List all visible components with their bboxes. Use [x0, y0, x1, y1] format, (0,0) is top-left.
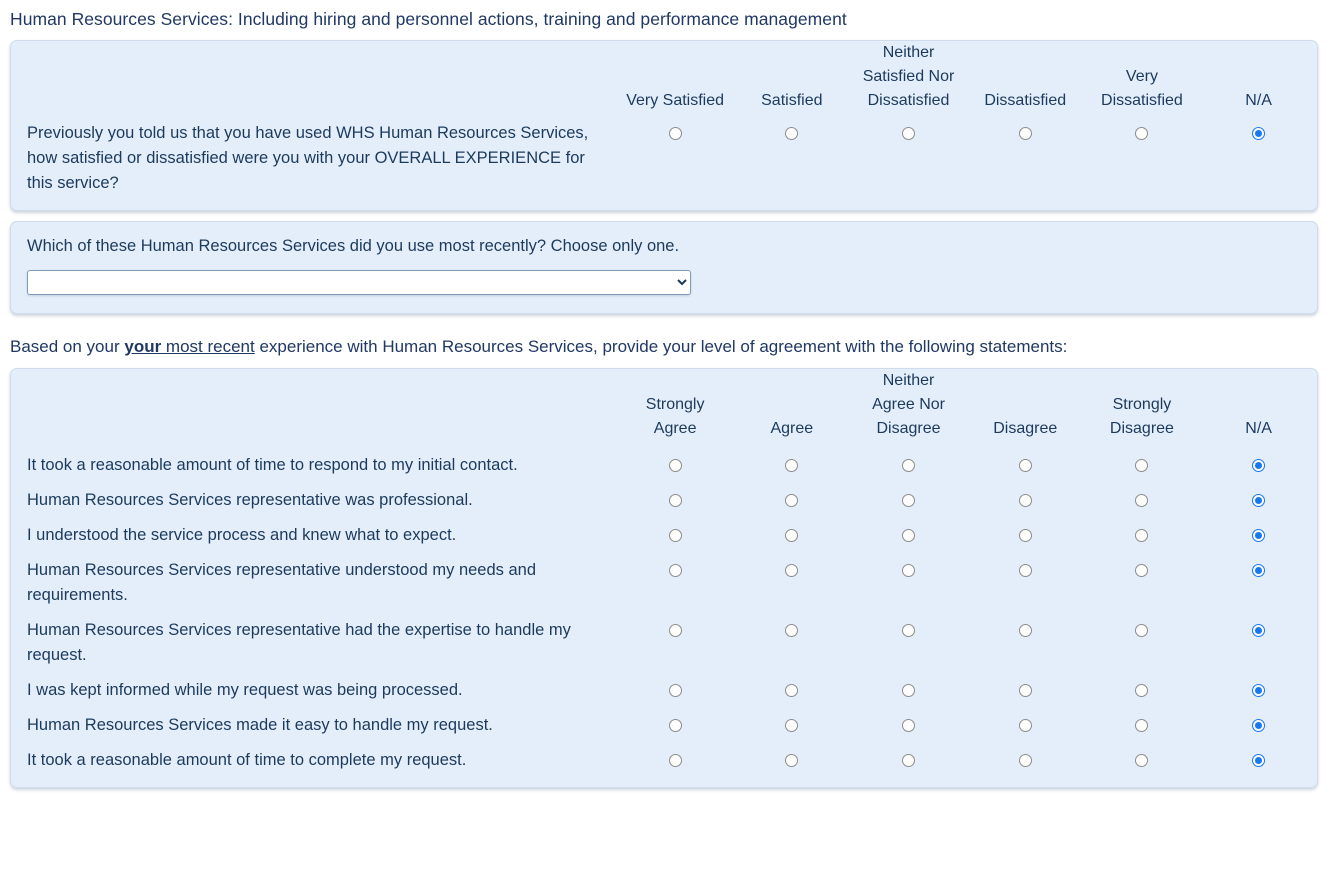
instruction-suffix: experience with Human Resources Services… — [255, 337, 1068, 356]
matrix-radio-cell[interactable] — [967, 553, 1084, 613]
radio-agreement-r3-c4[interactable] — [1135, 564, 1148, 577]
matrix-radio-cell[interactable] — [617, 553, 734, 613]
radio-satisfaction-r0-c2[interactable] — [902, 127, 915, 140]
matrix-row-statement: Previously you told us that you have use… — [11, 121, 617, 210]
radio-agreement-r0-c1[interactable] — [785, 459, 798, 472]
matrix-column-header-line: Dissatisfied — [850, 89, 967, 113]
matrix-row-statement: Human Resources Services representative … — [11, 613, 617, 673]
matrix-radio-cell[interactable] — [1200, 483, 1317, 518]
radio-satisfaction-r0-c3[interactable] — [1019, 127, 1032, 140]
radio-agreement-r0-c4[interactable] — [1135, 459, 1148, 472]
radio-agreement-r2-c5[interactable] — [1252, 529, 1265, 542]
radio-agreement-r6-c4[interactable] — [1135, 719, 1148, 732]
matrix-column-header-satisfaction-3: Dissatisfied — [967, 41, 1084, 121]
matrix-column-header-line: Disagree — [1084, 417, 1201, 441]
radio-agreement-r2-c0[interactable] — [669, 529, 682, 542]
instruction-prefix: Based on your — [10, 337, 124, 356]
matrix-column-header-line: Satisfied Nor — [850, 65, 967, 89]
matrix-row: Human Resources Services representative … — [11, 483, 1317, 518]
matrix-column-header-line: Dissatisfied — [967, 89, 1084, 113]
radio-agreement-r6-c1[interactable] — [785, 719, 798, 732]
matrix-radio-cell[interactable] — [850, 673, 967, 708]
matrix-header-row: Very SatisfiedSatisfiedNeitherSatisfied … — [11, 41, 1317, 121]
matrix-radio-cell[interactable] — [733, 445, 850, 483]
matrix-row: Human Resources Services representative … — [11, 553, 1317, 613]
matrix-radio-cell[interactable] — [967, 121, 1084, 210]
overall-experience-panel: Very SatisfiedSatisfiedNeitherSatisfied … — [10, 40, 1318, 211]
matrix-radio-cell[interactable] — [850, 518, 967, 553]
matrix-column-header-agreement-0: StronglyAgree — [617, 369, 734, 445]
matrix-radio-cell[interactable] — [1084, 613, 1201, 673]
matrix-column-header-agreement-4: StronglyDisagree — [1084, 369, 1201, 445]
matrix-radio-cell[interactable] — [1084, 518, 1201, 553]
matrix-radio-cell[interactable] — [850, 121, 967, 210]
radio-agreement-r2-c3[interactable] — [1019, 529, 1032, 542]
matrix-column-header-line: Agree Nor — [850, 393, 967, 417]
matrix-radio-cell[interactable] — [1084, 445, 1201, 483]
matrix-row: I was kept informed while my request was… — [11, 673, 1317, 708]
matrix-row-statement: Human Resources Services representative … — [11, 553, 617, 613]
radio-agreement-r1-c4[interactable] — [1135, 494, 1148, 507]
radio-agreement-r1-c3[interactable] — [1019, 494, 1032, 507]
agreement-instruction: Based on your your most recent experienc… — [0, 314, 1328, 358]
matrix-column-header-satisfaction-5: N/A — [1200, 41, 1317, 121]
instruction-emphasis-underline: most recent — [161, 337, 255, 356]
radio-agreement-r5-c0[interactable] — [669, 684, 682, 697]
matrix-column-header-satisfaction-4: VeryDissatisfied — [1084, 41, 1201, 121]
matrix-column-header-line: Dissatisfied — [1084, 89, 1201, 113]
radio-agreement-r2-c4[interactable] — [1135, 529, 1148, 542]
matrix-column-header-line: Disagree — [967, 417, 1084, 441]
radio-agreement-r7-c1[interactable] — [785, 754, 798, 767]
radio-agreement-r3-c3[interactable] — [1019, 564, 1032, 577]
matrix-radio-cell[interactable] — [967, 445, 1084, 483]
matrix-radio-cell[interactable] — [617, 673, 734, 708]
radio-agreement-r7-c0[interactable] — [669, 754, 682, 767]
overall-experience-matrix: Very SatisfiedSatisfiedNeitherSatisfied … — [11, 41, 1317, 210]
matrix-row-statement: I understood the service process and kne… — [11, 518, 617, 553]
matrix-column-header-agreement-2: NeitherAgree NorDisagree — [850, 369, 967, 445]
matrix-radio-cell[interactable] — [967, 708, 1084, 743]
matrix-row: Previously you told us that you have use… — [11, 121, 1317, 210]
matrix-row: Human Resources Services made it easy to… — [11, 708, 1317, 743]
matrix-row: I understood the service process and kne… — [11, 518, 1317, 553]
matrix-radio-cell[interactable] — [1084, 483, 1201, 518]
radio-agreement-r2-c1[interactable] — [785, 529, 798, 542]
matrix-column-header-satisfaction-0: Very Satisfied — [617, 41, 734, 121]
matrix-radio-cell[interactable] — [617, 708, 734, 743]
matrix-row: Human Resources Services representative … — [11, 613, 1317, 673]
radio-agreement-r0-c2[interactable] — [902, 459, 915, 472]
radio-satisfaction-r0-c0[interactable] — [669, 127, 682, 140]
matrix-column-header-satisfaction-1: Satisfied — [733, 41, 850, 121]
matrix-radio-cell[interactable] — [967, 518, 1084, 553]
matrix-radio-cell[interactable] — [967, 743, 1084, 787]
matrix-radio-cell[interactable] — [733, 708, 850, 743]
radio-satisfaction-r0-c4[interactable] — [1135, 127, 1148, 140]
matrix-radio-cell[interactable] — [1200, 613, 1317, 673]
radio-agreement-r5-c3[interactable] — [1019, 684, 1032, 697]
radio-agreement-r3-c1[interactable] — [785, 564, 798, 577]
radio-agreement-r5-c2[interactable] — [902, 684, 915, 697]
radio-agreement-r7-c4[interactable] — [1135, 754, 1148, 767]
matrix-column-header-line: Disagree — [850, 417, 967, 441]
radio-agreement-r4-c2[interactable] — [902, 624, 915, 637]
page-title: Human Resources Services: Including hiri… — [0, 0, 1328, 30]
matrix-radio-cell[interactable] — [967, 613, 1084, 673]
matrix-column-header-line: N/A — [1200, 89, 1317, 113]
matrix-radio-cell[interactable] — [1084, 743, 1201, 787]
matrix-radio-cell[interactable] — [733, 743, 850, 787]
matrix-radio-cell[interactable] — [1200, 121, 1317, 210]
matrix-radio-cell[interactable] — [617, 121, 734, 210]
matrix-column-header-satisfaction-2: NeitherSatisfied NorDissatisfied — [850, 41, 967, 121]
matrix-radio-cell[interactable] — [733, 483, 850, 518]
radio-agreement-r1-c5[interactable] — [1252, 494, 1265, 507]
matrix-radio-cell[interactable] — [733, 613, 850, 673]
radio-agreement-r1-c1[interactable] — [785, 494, 798, 507]
matrix-radio-cell[interactable] — [1200, 445, 1317, 483]
matrix-radio-cell[interactable] — [617, 445, 734, 483]
radio-agreement-r1-c2[interactable] — [902, 494, 915, 507]
radio-satisfaction-r0-c5[interactable] — [1252, 127, 1265, 140]
matrix-radio-cell[interactable] — [733, 673, 850, 708]
matrix-row-statement: It took a reasonable amount of time to c… — [11, 743, 617, 787]
matrix-radio-cell[interactable] — [850, 553, 967, 613]
matrix-radio-cell[interactable] — [967, 673, 1084, 708]
radio-agreement-r1-c0[interactable] — [669, 494, 682, 507]
matrix-radio-cell[interactable] — [1200, 743, 1317, 787]
matrix-column-header-line: Very — [1084, 65, 1201, 89]
radio-agreement-r7-c5[interactable] — [1252, 754, 1265, 767]
radio-agreement-r6-c5[interactable] — [1252, 719, 1265, 732]
radio-satisfaction-r0-c1[interactable] — [785, 127, 798, 140]
matrix-column-header-line: Strongly — [1084, 393, 1201, 417]
radio-agreement-r7-c3[interactable] — [1019, 754, 1032, 767]
matrix-radio-cell[interactable] — [850, 743, 967, 787]
service-question-label: Which of these Human Resources Services … — [27, 234, 1301, 270]
matrix-radio-cell[interactable] — [617, 483, 734, 518]
matrix-corner-cell — [11, 369, 617, 445]
matrix-row-statement: Human Resources Services representative … — [11, 483, 617, 518]
matrix-radio-cell[interactable] — [850, 483, 967, 518]
radio-agreement-r4-c3[interactable] — [1019, 624, 1032, 637]
radio-agreement-r0-c5[interactable] — [1252, 459, 1265, 472]
radio-agreement-r5-c5[interactable] — [1252, 684, 1265, 697]
radio-agreement-r4-c4[interactable] — [1135, 624, 1148, 637]
agreement-matrix: StronglyAgreeAgreeNeitherAgree NorDisagr… — [11, 369, 1317, 787]
matrix-radio-cell[interactable] — [617, 613, 734, 673]
radio-agreement-r0-c3[interactable] — [1019, 459, 1032, 472]
matrix-radio-cell[interactable] — [1084, 708, 1201, 743]
radio-agreement-r3-c5[interactable] — [1252, 564, 1265, 577]
matrix-radio-cell[interactable] — [850, 708, 967, 743]
radio-agreement-r6-c2[interactable] — [902, 719, 915, 732]
matrix-body: It took a reasonable amount of time to r… — [11, 445, 1317, 787]
matrix-radio-cell[interactable] — [1084, 673, 1201, 708]
radio-agreement-r3-c2[interactable] — [902, 564, 915, 577]
radio-agreement-r4-c1[interactable] — [785, 624, 798, 637]
matrix-row-statement: I was kept informed while my request was… — [11, 673, 617, 708]
matrix-column-header-agreement-1: Agree — [733, 369, 850, 445]
matrix-radio-cell[interactable] — [1200, 708, 1317, 743]
service-selection-panel: Which of these Human Resources Services … — [10, 221, 1318, 314]
matrix-radio-cell[interactable] — [733, 121, 850, 210]
matrix-radio-cell[interactable] — [617, 518, 734, 553]
matrix-radio-cell[interactable] — [617, 743, 734, 787]
radio-agreement-r6-c0[interactable] — [669, 719, 682, 732]
service-select[interactable] — [27, 270, 691, 295]
matrix-row-statement: Human Resources Services made it easy to… — [11, 708, 617, 743]
matrix-column-header-line: Neither — [850, 369, 967, 393]
radio-agreement-r0-c0[interactable] — [669, 459, 682, 472]
matrix-radio-cell[interactable] — [1200, 518, 1317, 553]
matrix-column-header-agreement-5: N/A — [1200, 369, 1317, 445]
agreement-panel: StronglyAgreeAgreeNeitherAgree NorDisagr… — [10, 368, 1318, 788]
radio-agreement-r5-c4[interactable] — [1135, 684, 1148, 697]
matrix-radio-cell[interactable] — [733, 553, 850, 613]
matrix-row-statement: It took a reasonable amount of time to r… — [11, 445, 617, 483]
radio-agreement-r3-c0[interactable] — [669, 564, 682, 577]
matrix-header-row: StronglyAgreeAgreeNeitherAgree NorDisagr… — [11, 369, 1317, 445]
instruction-emphasis-bold: your — [124, 337, 161, 356]
radio-agreement-r5-c1[interactable] — [785, 684, 798, 697]
matrix-radio-cell[interactable] — [850, 613, 967, 673]
matrix-column-header-line: Agree — [617, 417, 734, 441]
radio-agreement-r2-c2[interactable] — [902, 529, 915, 542]
matrix-radio-cell[interactable] — [733, 518, 850, 553]
radio-agreement-r4-c0[interactable] — [669, 624, 682, 637]
matrix-column-header-line: Strongly — [617, 393, 734, 417]
matrix-column-header-line: Agree — [733, 417, 850, 441]
matrix-row: It took a reasonable amount of time to c… — [11, 743, 1317, 787]
matrix-corner-cell — [11, 41, 617, 121]
matrix-row: It took a reasonable amount of time to r… — [11, 445, 1317, 483]
matrix-column-header-line: Neither — [850, 41, 967, 65]
radio-agreement-r6-c3[interactable] — [1019, 719, 1032, 732]
radio-agreement-r7-c2[interactable] — [902, 754, 915, 767]
radio-agreement-r4-c5[interactable] — [1252, 624, 1265, 637]
matrix-column-header-line: N/A — [1200, 417, 1317, 441]
matrix-radio-cell[interactable] — [1084, 553, 1201, 613]
matrix-column-header-agreement-3: Disagree — [967, 369, 1084, 445]
matrix-body: Previously you told us that you have use… — [11, 121, 1317, 210]
matrix-radio-cell[interactable] — [1200, 673, 1317, 708]
matrix-column-header-line: Satisfied — [733, 89, 850, 113]
matrix-radio-cell[interactable] — [967, 483, 1084, 518]
matrix-radio-cell[interactable] — [1084, 121, 1201, 210]
survey-page: Human Resources Services: Including hiri… — [0, 0, 1328, 788]
matrix-column-header-line: Very Satisfied — [617, 89, 734, 113]
matrix-radio-cell[interactable] — [1200, 553, 1317, 613]
matrix-radio-cell[interactable] — [850, 445, 967, 483]
